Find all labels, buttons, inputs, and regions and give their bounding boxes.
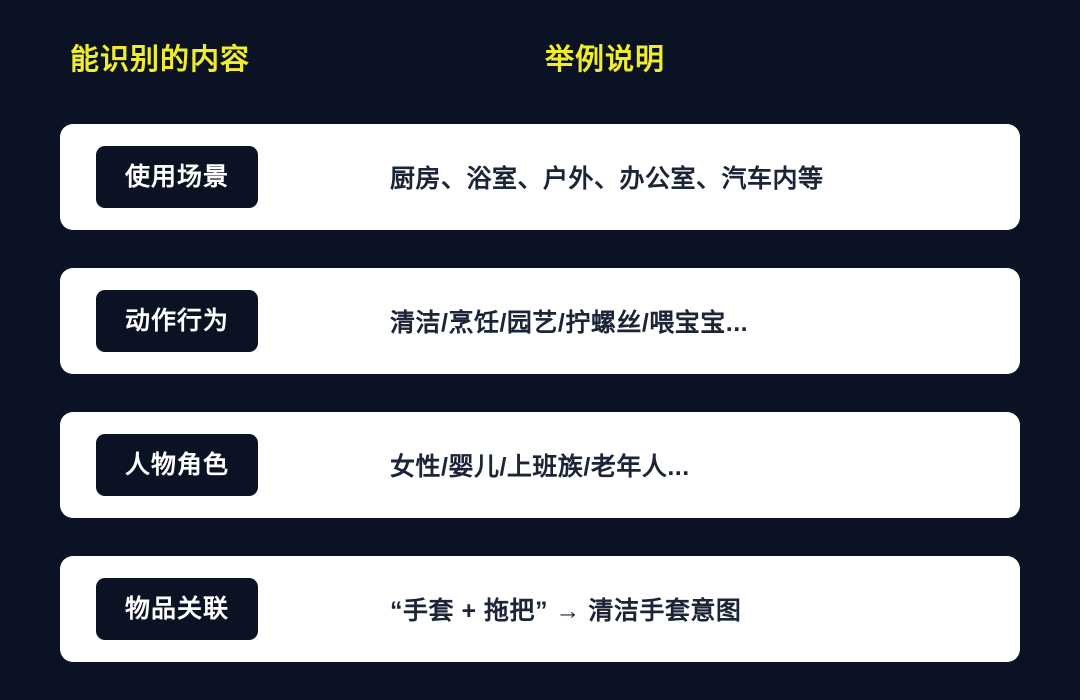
row-label-text: 使用场景 bbox=[125, 165, 229, 190]
slide-root: 能识别的内容 举例说明 使用场景 厨房、浴室、户外、办公室、汽车内等 动作行为 … bbox=[0, 0, 1080, 700]
row-label-text: 人物角色 bbox=[125, 453, 229, 478]
row-label-text: 动作行为 bbox=[125, 309, 229, 334]
row-example-text: “手套 + 拖把” → 清洁手套意图 bbox=[390, 556, 741, 662]
header-column-examples: 举例说明 bbox=[545, 40, 665, 80]
row-example-text: 厨房、浴室、户外、办公室、汽车内等 bbox=[390, 124, 824, 230]
table-row: 人物角色 女性/婴儿/上班族/老年人... bbox=[60, 412, 1020, 518]
row-example-text: 清洁/烹饪/园艺/拧螺丝/喂宝宝... bbox=[390, 268, 748, 374]
table-row: 使用场景 厨房、浴室、户外、办公室、汽车内等 bbox=[60, 124, 1020, 230]
row-label-chip: 动作行为 bbox=[96, 290, 258, 352]
header-column-recognizable-content: 能识别的内容 bbox=[70, 40, 250, 80]
row-label-chip: 使用场景 bbox=[96, 146, 258, 208]
row-label-text: 物品关联 bbox=[125, 597, 229, 622]
table-header: 能识别的内容 举例说明 bbox=[0, 40, 1080, 88]
table-body: 使用场景 厨房、浴室、户外、办公室、汽车内等 动作行为 清洁/烹饪/园艺/拧螺丝… bbox=[60, 124, 1020, 662]
table-row: 动作行为 清洁/烹饪/园艺/拧螺丝/喂宝宝... bbox=[60, 268, 1020, 374]
row-label-chip: 人物角色 bbox=[96, 434, 258, 496]
row-label-chip: 物品关联 bbox=[96, 578, 258, 640]
row-example-text: 女性/婴儿/上班族/老年人... bbox=[390, 412, 690, 518]
table-row: 物品关联 “手套 + 拖把” → 清洁手套意图 bbox=[60, 556, 1020, 662]
